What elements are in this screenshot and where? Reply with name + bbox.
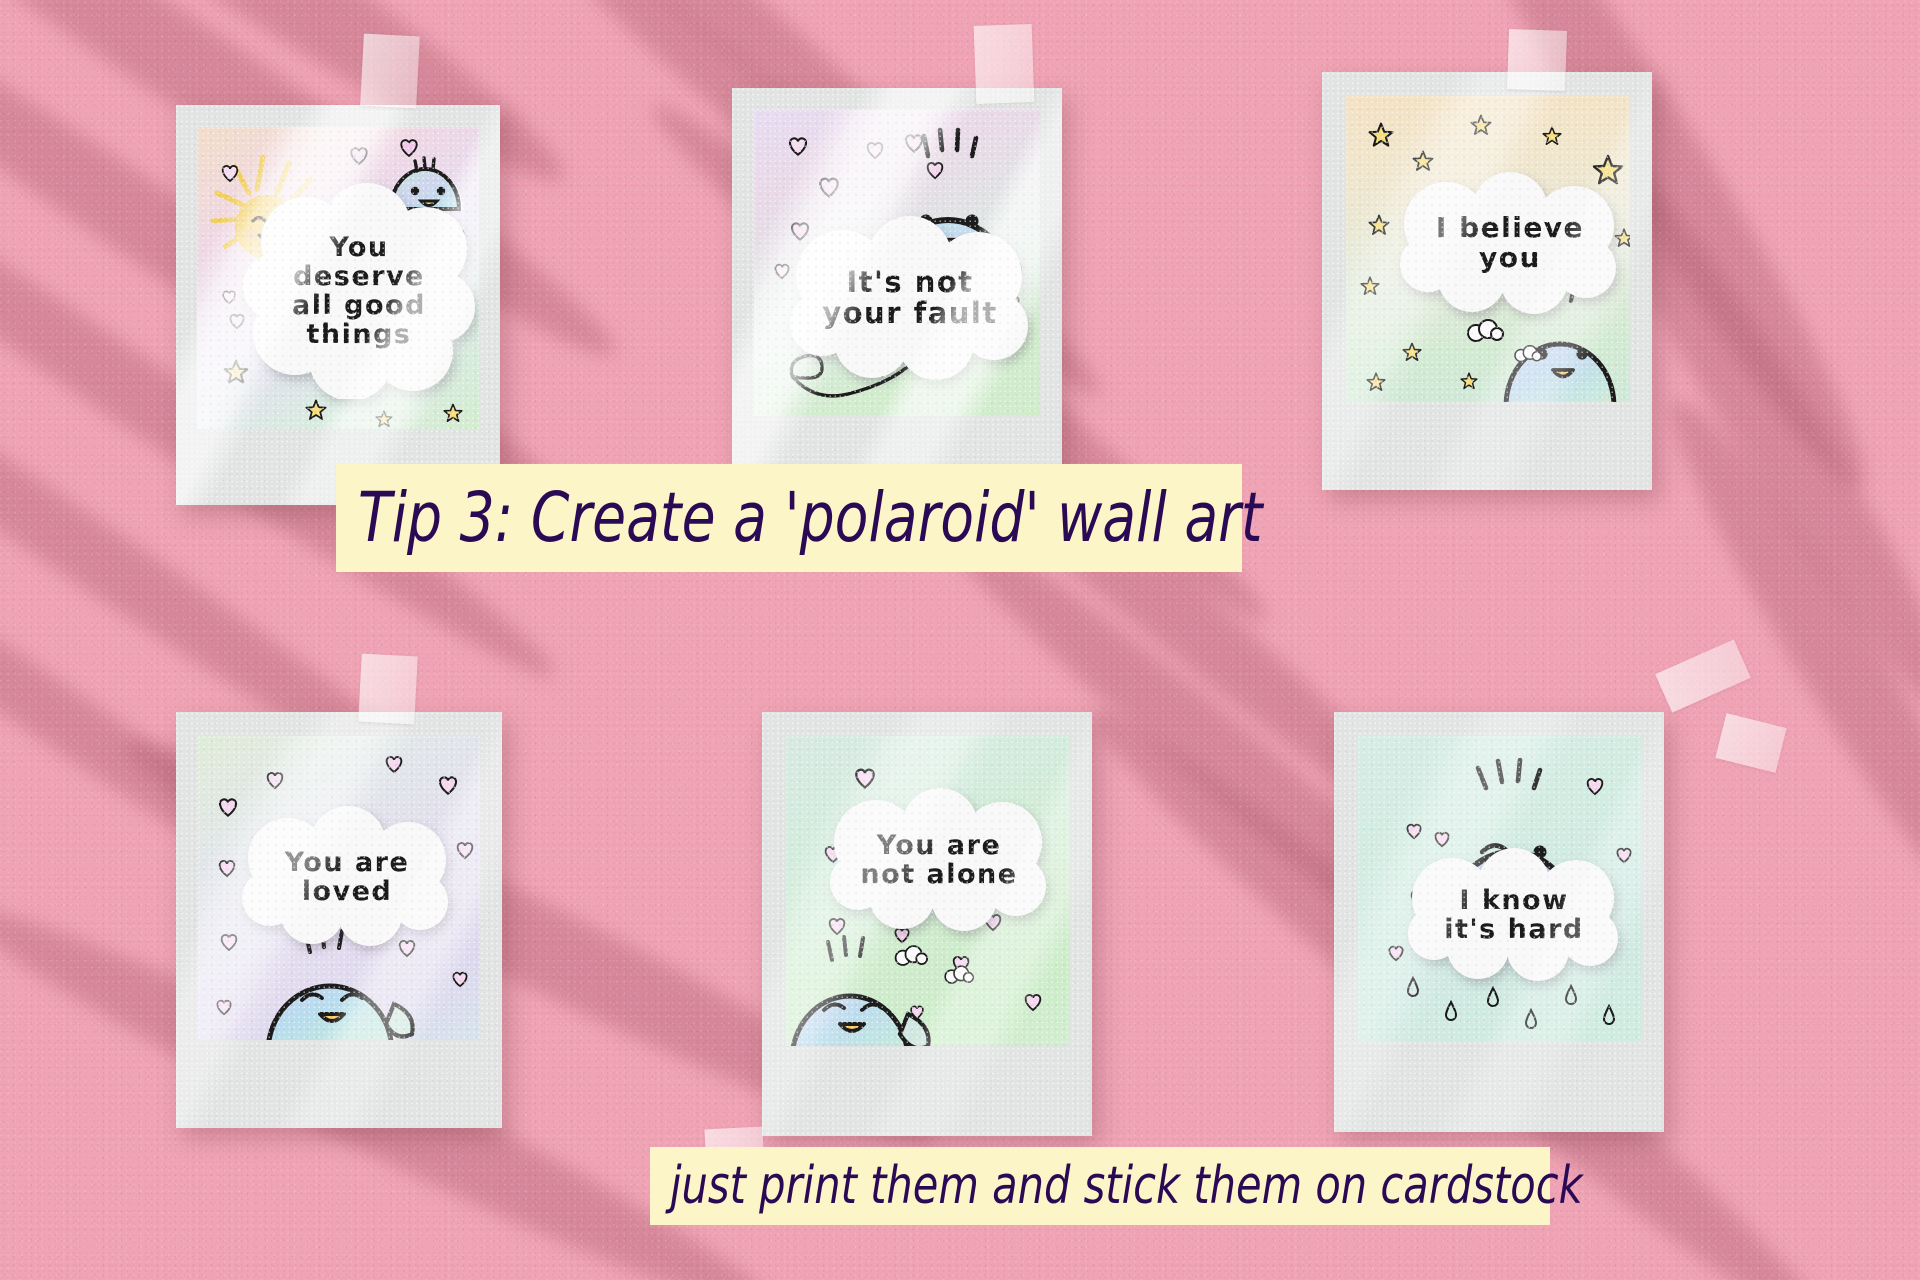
star-icon <box>443 403 463 423</box>
photo-area: I know it's hard <box>1358 736 1642 1042</box>
photo-area: You are not alone <box>786 736 1070 1046</box>
quote-text: It's not your fault <box>786 214 1034 382</box>
polaroid-card[interactable]: You are loved <box>176 712 502 1128</box>
polaroid-card[interactable]: I believe you <box>1322 72 1652 490</box>
drop-icon <box>1564 984 1578 1006</box>
quote-text: I believe you <box>1394 172 1626 314</box>
star-icon <box>1460 372 1478 390</box>
polaroid-card[interactable]: It's not your fault <box>732 88 1062 500</box>
speech-cloud: You deserve all good things <box>243 183 475 399</box>
heart-icon <box>1404 822 1424 840</box>
sub-banner: just print them and stick them on cardst… <box>650 1147 1550 1225</box>
heart-icon <box>1584 776 1606 796</box>
heart-icon <box>216 858 238 878</box>
photo-area: It's not your fault <box>754 110 1040 416</box>
heart-icon <box>924 160 946 180</box>
heart-icon <box>816 175 842 199</box>
star-icon <box>375 410 393 428</box>
drop-icon <box>1486 986 1500 1008</box>
speech-cloud: I know it's hard <box>1402 848 1626 982</box>
heart-icon <box>1022 992 1044 1012</box>
heart-icon <box>1432 830 1452 848</box>
tape-strip <box>1507 29 1567 91</box>
photo-area: I believe you <box>1346 96 1630 402</box>
quote-text: You are not alone <box>824 788 1054 932</box>
star-icon <box>1470 114 1492 136</box>
photo-area: You are loved <box>198 736 480 1040</box>
heart-icon <box>214 998 234 1016</box>
tape-strip <box>360 34 420 109</box>
heart-icon <box>397 137 421 158</box>
heart-icon <box>218 932 240 952</box>
photo-area: You deserve all good things <box>197 127 479 429</box>
quote-text: You are loved <box>238 806 456 948</box>
tape-strip <box>1715 713 1786 773</box>
quote-text: I know it's hard <box>1402 848 1626 982</box>
heart-icon <box>902 132 926 154</box>
puff-icon <box>1512 344 1542 364</box>
poster-canvas: You deserve all good things <box>0 0 1920 1280</box>
star-icon <box>1402 342 1422 362</box>
drop-icon <box>1444 1000 1458 1022</box>
drop-icon <box>1524 1008 1538 1030</box>
heart-icon <box>347 145 371 166</box>
heart-icon <box>264 770 286 790</box>
tape-strip <box>358 654 417 725</box>
puff-icon <box>942 964 974 986</box>
polaroid-card[interactable]: You are not alone <box>762 712 1092 1136</box>
star-icon <box>305 399 327 421</box>
tape-strip <box>974 24 1035 104</box>
star-icon <box>1366 372 1386 392</box>
heart-icon <box>436 774 460 796</box>
speech-cloud: I believe you <box>1394 172 1626 314</box>
star-icon <box>1542 126 1562 146</box>
heart-icon <box>450 970 470 988</box>
speech-cloud: You are loved <box>238 806 456 948</box>
heart-icon <box>216 796 240 818</box>
speech-cloud: It's not your fault <box>786 214 1034 382</box>
heart-icon <box>454 840 476 860</box>
polaroid-card[interactable]: You deserve all good things <box>176 105 500 505</box>
heart-icon <box>220 289 238 305</box>
heart-icon <box>852 766 878 790</box>
puff-icon <box>1464 318 1504 344</box>
heart-icon <box>383 754 405 774</box>
star-icon <box>1412 150 1434 172</box>
speech-cloud: You are not alone <box>824 788 1054 932</box>
tape-strip <box>1655 639 1751 712</box>
heart-icon <box>786 135 810 157</box>
sub-banner-text: just print them and stick them on cardst… <box>670 1156 1583 1216</box>
main-banner: Tip 3: Create a 'polaroid' wall art <box>336 464 1242 572</box>
star-icon <box>1368 122 1394 148</box>
quote-text: You deserve all good things <box>243 183 475 399</box>
puff-icon <box>892 944 928 968</box>
heart-icon <box>864 140 886 160</box>
star-icon <box>1360 276 1380 296</box>
drop-icon <box>1602 1004 1616 1026</box>
heart-icon <box>908 1004 926 1020</box>
polaroid-card[interactable]: I know it's hard <box>1334 712 1664 1132</box>
main-banner-text: Tip 3: Create a 'polaroid' wall art <box>358 478 1263 558</box>
heart-icon <box>219 163 241 183</box>
star-icon <box>1368 214 1390 236</box>
